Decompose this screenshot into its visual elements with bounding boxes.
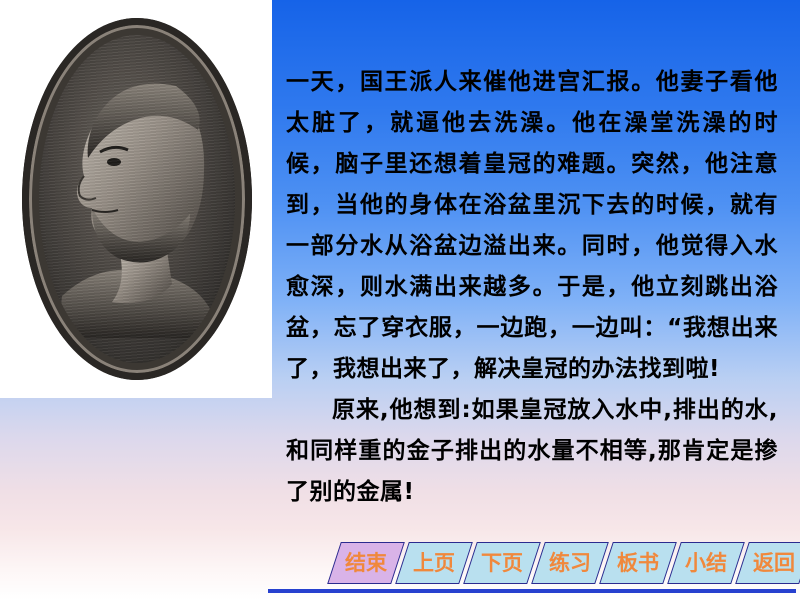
nav-button-end[interactable]: 结束 <box>327 542 405 584</box>
navigation-button-bar: 结束 上页 下页 练习 板书 小结 返回 <box>330 540 792 596</box>
nav-button-return-label: 返回 <box>743 543 800 583</box>
nav-button-return[interactable]: 返回 <box>735 542 800 584</box>
nav-button-prev-page-label: 上页 <box>403 543 465 583</box>
nav-button-next-page[interactable]: 下页 <box>463 542 541 584</box>
nav-button-blackboard[interactable]: 板书 <box>599 542 677 584</box>
nav-button-exercise-label: 练习 <box>539 543 601 583</box>
portrait-panel <box>0 0 272 398</box>
portrait-oval-frame-ring <box>22 18 252 380</box>
nav-underline-bar <box>268 589 796 593</box>
paragraph-1: 一天，国王派人来催他进宫汇报。他妻子看他太脏了，就逼他去洗澡。他在澡堂洗澡的时候… <box>286 62 778 390</box>
paragraph-2: 原来,他想到:如果皇冠放入水中,排出的水,和同样重的金子排出的水量不相等,那肯定… <box>286 390 778 513</box>
slide-body-text: 一天，国王派人来催他进宫汇报。他妻子看他太脏了，就逼他去洗澡。他在澡堂洗澡的时候… <box>286 62 778 513</box>
nav-button-summary[interactable]: 小结 <box>667 542 745 584</box>
nav-button-blackboard-label: 板书 <box>607 543 669 583</box>
archimedes-engraving-portrait <box>22 18 252 380</box>
nav-button-next-page-label: 下页 <box>471 543 533 583</box>
nav-button-summary-label: 小结 <box>675 543 737 583</box>
nav-button-exercise[interactable]: 练习 <box>531 542 609 584</box>
nav-button-end-label: 结束 <box>335 543 397 583</box>
nav-button-prev-page[interactable]: 上页 <box>395 542 473 584</box>
slide-canvas: 一天，国王派人来催他进宫汇报。他妻子看他太脏了，就逼他去洗澡。他在澡堂洗澡的时候… <box>0 0 800 600</box>
